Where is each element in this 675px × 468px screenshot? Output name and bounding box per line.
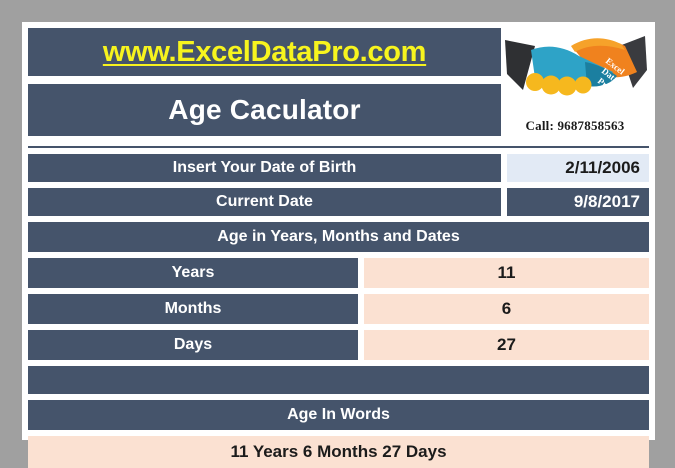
header-text-column: www.ExcelDataPro.com Age Caculator [28, 28, 501, 136]
current-date-value: 9/8/2017 [507, 188, 649, 216]
dob-input[interactable]: 2/11/2006 [507, 154, 649, 182]
row-results-section-title: Age in Years, Months and Dates [28, 222, 649, 252]
row-age-in-words-value: 11 Years 6 Months 27 Days [28, 436, 649, 468]
dob-label: Insert Your Date of Birth [28, 154, 501, 182]
row-days: Days 27 [28, 330, 649, 360]
row-current-date: Current Date 9/8/2017 [28, 188, 649, 216]
row-years: Years 11 [28, 258, 649, 288]
row-date-of-birth: Insert Your Date of Birth 2/11/2006 [28, 154, 649, 182]
brand-logo: Excel Data Pro Call: 9687858563 [501, 28, 649, 136]
row-spacer [28, 366, 649, 394]
months-value: 6 [364, 294, 649, 324]
age-in-words-title: Age In Words [28, 400, 649, 430]
months-label: Months [28, 294, 358, 324]
days-value: 27 [364, 330, 649, 360]
row-age-in-words-title: Age In Words [28, 400, 649, 430]
handshake-icon: Excel Data Pro [501, 28, 649, 110]
years-label: Years [28, 258, 358, 288]
days-label: Days [28, 330, 358, 360]
logo-phone-label: Call: 9687858563 [501, 118, 649, 134]
header-divider [28, 146, 649, 148]
current-date-label: Current Date [28, 188, 501, 216]
site-url-link[interactable]: www.ExcelDataPro.com [103, 36, 426, 69]
years-value: 11 [364, 258, 649, 288]
age-calculator-card: www.ExcelDataPro.com Age Caculator [22, 22, 655, 440]
spacer-bar [28, 366, 649, 394]
row-months: Months 6 [28, 294, 649, 324]
app-title-bar: Age Caculator [28, 84, 501, 136]
page-title: Age Caculator [168, 94, 360, 126]
header: www.ExcelDataPro.com Age Caculator [28, 28, 649, 136]
age-in-words-value: 11 Years 6 Months 27 Days [28, 436, 649, 468]
site-url-bar: www.ExcelDataPro.com [28, 28, 501, 76]
results-section-title: Age in Years, Months and Dates [28, 222, 649, 252]
